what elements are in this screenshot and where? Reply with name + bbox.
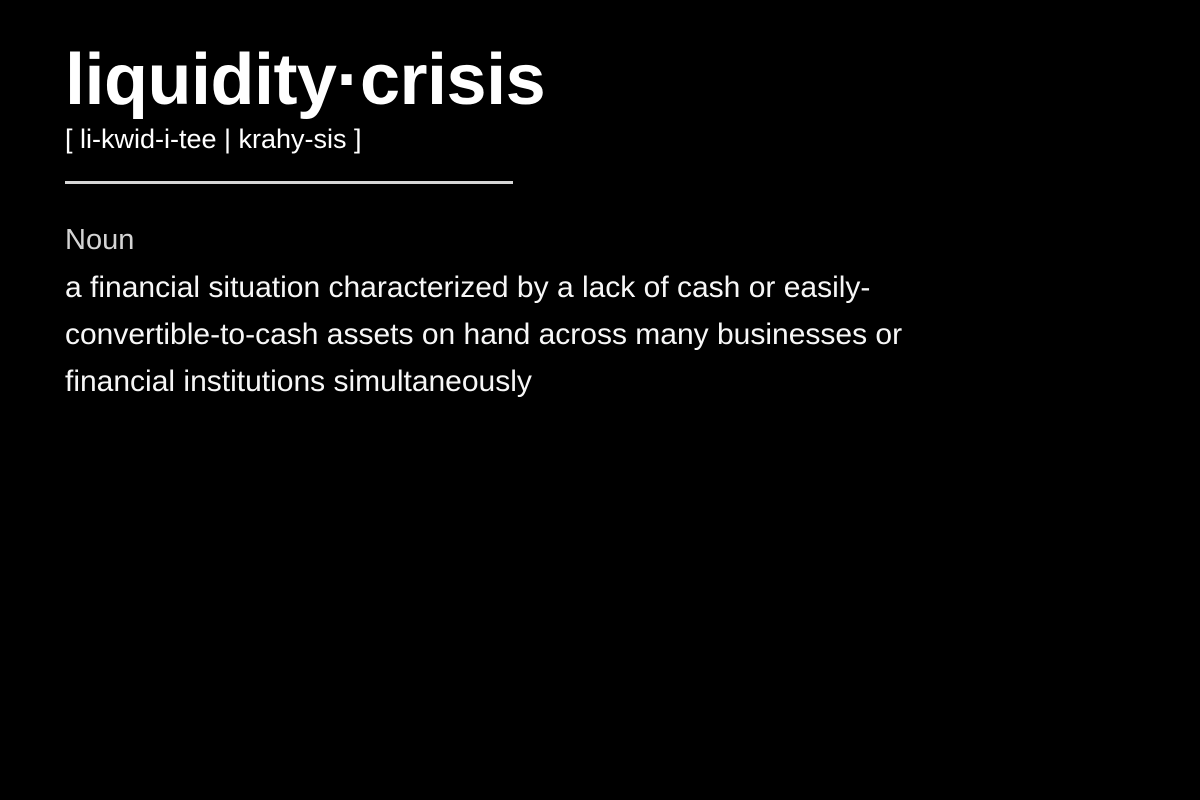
- definition-line: convertible-to-cash assets on hand acros…: [65, 311, 1055, 358]
- definition-line: a financial situation characterized by a…: [65, 264, 1055, 311]
- headword: liquidity·crisis: [65, 38, 1145, 123]
- definition-line: financial institutions simultaneously: [65, 358, 1055, 405]
- part-of-speech-label: Noun: [65, 217, 1145, 264]
- definition-card: liquidity·crisis [ li-kwid-i-tee | krahy…: [0, 0, 1200, 800]
- pronunciation: [ li-kwid-i-tee | krahy-sis ]: [65, 123, 1145, 157]
- dictionary-entry: liquidity·crisis [ li-kwid-i-tee | krahy…: [65, 38, 1145, 405]
- definition-text: a financial situation characterized by a…: [65, 264, 1055, 405]
- divider-wrap: [65, 181, 1145, 217]
- sense-block: Noun a financial situation characterized…: [65, 217, 1145, 405]
- section-divider: [65, 181, 513, 184]
